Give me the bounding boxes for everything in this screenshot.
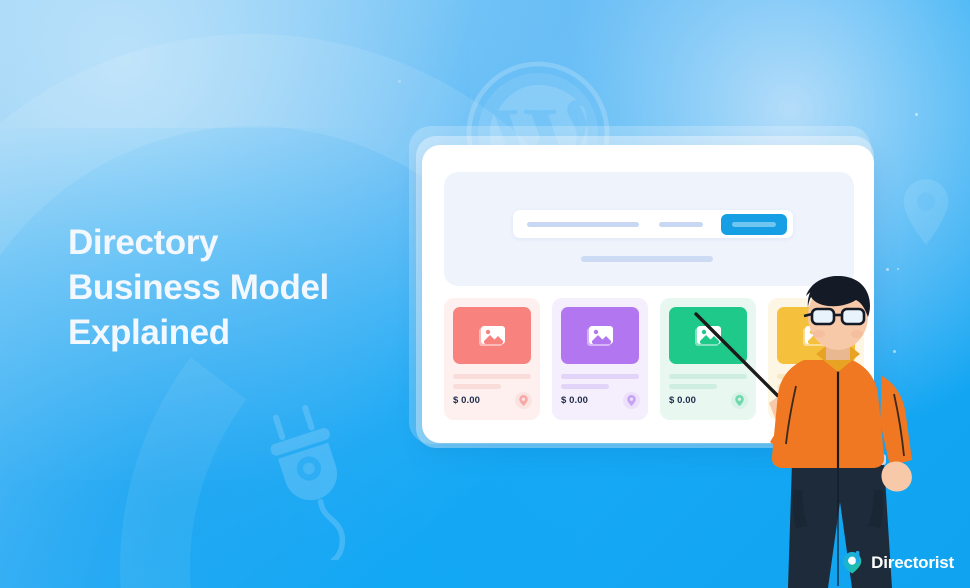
brand-logo[interactable]: Directorist (842, 551, 954, 574)
image-placeholder-icon (693, 324, 723, 348)
listing-thumbnail (453, 307, 531, 364)
directorist-pin-logo-icon (842, 551, 864, 574)
listing-line-2 (669, 384, 717, 389)
page-title-line-3: Explained (68, 310, 448, 355)
page-title-line-1: Directory (68, 220, 448, 265)
search-button[interactable] (721, 214, 787, 235)
listing-price: $ 0.00 (561, 395, 588, 406)
brand-name: Directorist (871, 553, 954, 573)
sparkle-dot (886, 268, 889, 271)
listing-line-2 (453, 384, 501, 389)
page-title: Directory Business Model Explained (68, 220, 448, 355)
listing-price: $ 0.00 (669, 395, 696, 406)
location-pin-icon[interactable] (839, 392, 856, 409)
location-pin-icon[interactable] (731, 392, 748, 409)
banner-canvas: Directory Business Model Explained (0, 0, 970, 588)
listing-line-1 (453, 374, 531, 379)
listing-card[interactable]: $ 0.00 (660, 298, 756, 420)
location-pin-icon[interactable] (515, 392, 532, 409)
search-input[interactable] (513, 210, 793, 238)
plug-icon-watermark (255, 395, 395, 560)
search-input-placeholder-secondary (659, 222, 703, 227)
sparkle-dot (893, 350, 896, 353)
sparkle-dot (915, 113, 918, 116)
listing-line-1 (669, 374, 747, 379)
presenter-arm-right (880, 376, 912, 466)
map-pin-watermark (898, 178, 954, 246)
listing-thumbnail (669, 307, 747, 364)
sparkle-dot (897, 268, 899, 270)
image-placeholder-icon (801, 324, 831, 348)
listing-card[interactable]: $ 0.00 (552, 298, 648, 420)
sparkle-dot (398, 80, 401, 83)
search-input-placeholder-primary (527, 222, 639, 227)
presenter-belt (790, 454, 886, 465)
listing-card[interactable]: $ 0.00 (444, 298, 540, 420)
listing-line-2 (777, 384, 825, 389)
listing-thumbnail (561, 307, 639, 364)
listing-card-grid: $ 0.00 $ 0.00 (444, 298, 864, 420)
search-subline (581, 256, 713, 262)
listing-line-1 (777, 374, 855, 379)
listing-price: $ 0.00 (453, 395, 480, 406)
image-placeholder-icon (585, 324, 615, 348)
location-pin-icon[interactable] (623, 392, 640, 409)
presenter-hand-right (881, 461, 911, 491)
listing-line-2 (561, 384, 609, 389)
listing-thumbnail (777, 307, 855, 364)
listing-line-1 (561, 374, 639, 379)
page-title-line-2: Business Model (68, 265, 448, 310)
search-button-label (732, 222, 776, 227)
image-placeholder-icon (477, 324, 507, 348)
listing-card[interactable]: $ 0.00 (768, 298, 864, 420)
listing-price: $ 0.00 (777, 395, 804, 406)
